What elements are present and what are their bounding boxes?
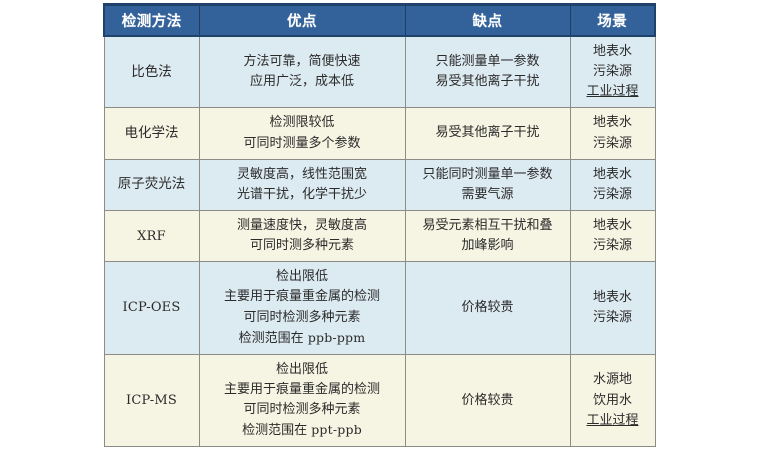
method-name-text: XRF — [137, 229, 166, 244]
pros-line: 检出限低 — [204, 360, 401, 380]
table-row: ICP-MS检出限低主要用于痕量重金属的检测可同时检测多种元素检测范围在 ppt… — [104, 354, 655, 447]
cell-scene: 地表水污染源 — [570, 108, 655, 159]
table-row: 比色法方法可靠，简便快速应用广泛，成本低只能测量单一参数易受其他离子干扰地表水污… — [104, 36, 655, 108]
cons-line: 易受其他离子干扰 — [410, 72, 566, 92]
table-row: XRF测量速度快，灵敏度高可同时测多种元素易受元素相互干扰和叠加峰影响地表水污染… — [104, 210, 655, 261]
column-header-method: 检测方法 — [104, 5, 199, 37]
cell-scene: 地表水污染源 — [570, 262, 655, 355]
cell-cons: 价格较贵 — [405, 354, 570, 447]
scene-line: 地表水 — [575, 165, 651, 185]
scene-line: 地表水 — [575, 42, 651, 62]
method-name-text: ICP-MS — [126, 393, 177, 408]
cons-line: 需要气源 — [410, 185, 566, 205]
pros-line: 应用广泛，成本低 — [204, 72, 401, 92]
method-name-text: ICP-OES — [123, 300, 181, 315]
cell-cons: 价格较贵 — [405, 262, 570, 355]
cell-method: ICP-OES — [104, 262, 199, 355]
cell-pros: 检出限低主要用于痕量重金属的检测可同时检测多种元素检测范围在 ppt-ppb — [199, 354, 405, 447]
table-body: 比色法方法可靠，简便快速应用广泛，成本低只能测量单一参数易受其他离子干扰地表水污… — [104, 36, 655, 447]
pros-line: 测量速度快，灵敏度高 — [204, 216, 401, 236]
scene-line: 饮用水 — [575, 391, 651, 411]
cell-cons: 易受元素相互干扰和叠加峰影响 — [405, 210, 570, 261]
table-row: ICP-OES检出限低主要用于痕量重金属的检测可同时检测多种元素检测范围在 pp… — [104, 262, 655, 355]
pros-line: 检测限较低 — [204, 113, 401, 133]
cell-scene: 水源地饮用水工业过程 — [570, 354, 655, 447]
scene-line: 地表水 — [575, 288, 651, 308]
pros-line: 可同时检测多种元素 — [204, 308, 401, 328]
scene-line: 地表水 — [575, 113, 651, 133]
pros-line: 方法可靠，简便快速 — [204, 52, 401, 72]
pros-line: 可同时检测多种元素 — [204, 400, 401, 420]
cons-line: 价格较贵 — [410, 298, 566, 318]
scene-line: 水源地 — [575, 370, 651, 390]
cell-cons: 易受其他离子干扰 — [405, 108, 570, 159]
scene-line: 污染源 — [575, 185, 651, 205]
scene-line: 污染源 — [575, 134, 651, 154]
cell-pros: 检出限低主要用于痕量重金属的检测可同时检测多种元素检测范围在 ppb-ppm — [199, 262, 405, 355]
pros-line: 检出限低 — [204, 267, 401, 287]
cell-scene: 地表水污染源 — [570, 159, 655, 210]
cell-scene: 地表水污染源 — [570, 210, 655, 261]
scene-line: 污染源 — [575, 236, 651, 256]
column-header-scene: 场景 — [570, 5, 655, 37]
cell-cons: 只能测量单一参数易受其他离子干扰 — [405, 36, 570, 108]
scene-line: 工业过程 — [575, 411, 651, 431]
range-unit-text: ppb-ppm — [308, 330, 366, 345]
cell-method: XRF — [104, 210, 199, 261]
scene-line: 地表水 — [575, 216, 651, 236]
cell-method: 比色法 — [104, 36, 199, 108]
scene-line: 工业过程 — [575, 82, 651, 102]
pros-line: 光谱干扰，化学干扰少 — [204, 185, 401, 205]
cell-pros: 测量速度快，灵敏度高可同时测多种元素 — [199, 210, 405, 261]
pros-line: 可同时测多种元素 — [204, 236, 401, 256]
table-row: 电化学法检测限较低可同时测量多个参数易受其他离子干扰地表水污染源 — [104, 108, 655, 159]
cell-cons: 只能同时测量单一参数需要气源 — [405, 159, 570, 210]
scene-line: 污染源 — [575, 308, 651, 328]
cons-line: 价格较贵 — [410, 391, 566, 411]
pros-line: 检测范围在 ppb-ppm — [204, 328, 401, 349]
cons-line: 加峰影响 — [410, 236, 566, 256]
cell-pros: 灵敏度高，线性范围宽光谱干扰，化学干扰少 — [199, 159, 405, 210]
cons-line: 易受元素相互干扰和叠 — [410, 216, 566, 236]
cell-pros: 检测限较低可同时测量多个参数 — [199, 108, 405, 159]
column-header-cons: 缺点 — [405, 5, 570, 37]
cell-scene: 地表水污染源工业过程 — [570, 36, 655, 108]
pros-line: 主要用于痕量重金属的检测 — [204, 380, 401, 400]
page-root: 检测方法 优点 缺点 场景 比色法方法可靠，简便快速应用广泛，成本低只能测量单一… — [0, 0, 757, 474]
pros-line: 可同时测量多个参数 — [204, 134, 401, 154]
detection-methods-table: 检测方法 优点 缺点 场景 比色法方法可靠，简便快速应用广泛，成本低只能测量单一… — [103, 3, 656, 447]
pros-line: 检测范围在 ppt-ppb — [204, 420, 401, 441]
pros-line: 主要用于痕量重金属的检测 — [204, 287, 401, 307]
cell-method: ICP-MS — [104, 354, 199, 447]
scene-line: 污染源 — [575, 62, 651, 82]
cons-line: 只能同时测量单一参数 — [410, 165, 566, 185]
pros-line: 灵敏度高，线性范围宽 — [204, 165, 401, 185]
table-row: 原子荧光法灵敏度高，线性范围宽光谱干扰，化学干扰少只能同时测量单一参数需要气源地… — [104, 159, 655, 210]
cell-method: 电化学法 — [104, 108, 199, 159]
range-unit-text: ppt-ppb — [311, 422, 362, 437]
column-header-pros: 优点 — [199, 5, 405, 37]
cell-method: 原子荧光法 — [104, 159, 199, 210]
cons-line: 易受其他离子干扰 — [410, 123, 566, 143]
cell-pros: 方法可靠，简便快速应用广泛，成本低 — [199, 36, 405, 108]
table-header: 检测方法 优点 缺点 场景 — [104, 5, 655, 37]
header-row: 检测方法 优点 缺点 场景 — [104, 5, 655, 37]
cons-line: 只能测量单一参数 — [410, 52, 566, 72]
